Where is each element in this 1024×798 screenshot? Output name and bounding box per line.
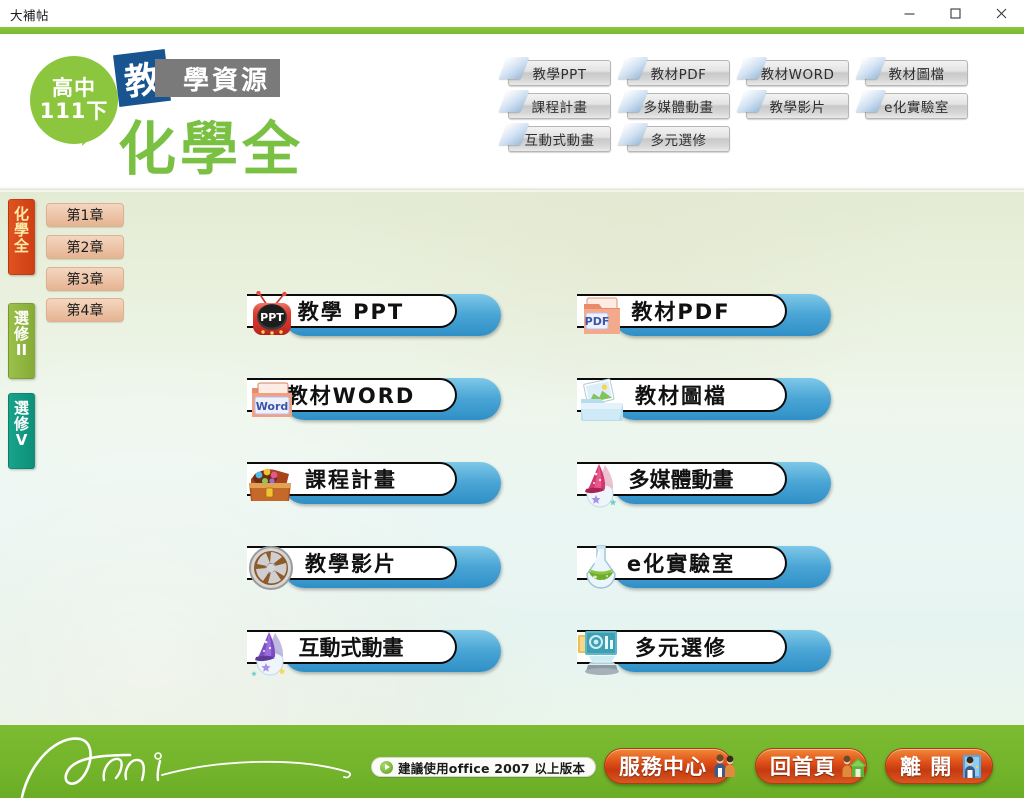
chip-gloss-icon xyxy=(499,90,530,112)
menu-column-right: 教材PDF PDF 教材圖檔 xyxy=(573,290,833,710)
sidebar-tab-elective-2[interactable]: 選 修 II xyxy=(8,303,35,379)
office-version-note: 建議使用office 2007 以上版本 xyxy=(371,757,596,777)
topnav-chip-label: 教材WORD xyxy=(761,63,835,83)
topnav-chip-label: 教學PPT xyxy=(532,63,586,83)
topnav-chip-label: 多元選修 xyxy=(651,129,707,149)
chip-gloss-icon xyxy=(499,57,530,79)
topnav-chip-ppt[interactable]: 教學PPT xyxy=(508,60,611,86)
people-icon xyxy=(712,753,738,779)
service-center-button[interactable]: 服務中心 xyxy=(604,748,732,784)
sidebar-chapter-4[interactable]: 第4章 xyxy=(46,298,124,322)
menu-item-material-images[interactable]: 教材圖檔 xyxy=(573,374,833,426)
sidebar-tab-line: V xyxy=(9,433,34,449)
svg-text:Word: Word xyxy=(256,400,289,413)
menu-item-multimedia-animation[interactable]: 多媒體動畫 xyxy=(573,458,833,510)
photo-folder-icon xyxy=(573,374,631,426)
folder-word-icon: Word xyxy=(243,374,301,426)
chip-gloss-icon xyxy=(618,57,649,79)
window-titlebar: 大補帖 xyxy=(0,0,1024,27)
exit-button[interactable]: 離 開 xyxy=(885,748,993,784)
topnav-chip-elab[interactable]: e化實驗室 xyxy=(865,93,968,119)
menu-item-teaching-ppt[interactable]: 教學 PPT PPT xyxy=(243,290,503,342)
menu-item-interactive-animation[interactable]: 互動式動畫 xyxy=(243,626,503,678)
office-version-note-label: 建議使用office 2007 以上版本 xyxy=(398,758,585,777)
topnav: 教學PPT 教材PDF 教材WORD 教材圖檔 課程計畫 多媒體動畫 xyxy=(508,60,1008,159)
exit-door-icon xyxy=(957,753,983,779)
topnav-chip-syllabus[interactable]: 課程計畫 xyxy=(508,93,611,119)
topnav-chip-pdf[interactable]: 教材PDF xyxy=(627,60,730,86)
service-center-button-label: 服務中心 xyxy=(619,751,707,781)
topnav-chip-label: 課程計畫 xyxy=(532,96,588,116)
topnav-chip-label: 多媒體動畫 xyxy=(644,96,714,116)
menu-item-e-lab[interactable]: e化實驗室 xyxy=(573,542,833,594)
chip-gloss-icon xyxy=(737,90,768,112)
projector-screen-icon xyxy=(573,626,631,678)
nani-brand-logo xyxy=(0,725,420,798)
flask-icon xyxy=(573,542,631,594)
exit-button-label: 離 開 xyxy=(900,751,952,781)
menu-item-multi-elective[interactable]: 多元選修 xyxy=(573,626,833,678)
grade-bubble-line1: 高中 xyxy=(52,77,96,100)
chip-gloss-icon xyxy=(618,123,649,145)
window-title: 大補帖 xyxy=(10,5,49,24)
main-content: 化 學 全 選 修 II 選 修 V 第1章 第2章 第3章 第4章 教學 PP… xyxy=(0,190,1024,725)
sidebar-tab-elective-5[interactable]: 選 修 V xyxy=(8,393,35,469)
menu-item-course-plan[interactable]: 課程計畫 xyxy=(243,458,503,510)
play-icon xyxy=(380,761,393,774)
folder-pdf-icon: PDF xyxy=(573,290,631,342)
sidebar: 化 學 全 選 修 II 選 修 V 第1章 第2章 第3章 第4章 xyxy=(8,195,128,655)
topnav-chip-label: 教材圖檔 xyxy=(889,63,945,83)
grade-bubble-line2: 111下 xyxy=(40,100,109,123)
menu-item-teaching-video[interactable]: 教學影片 xyxy=(243,542,503,594)
top-green-rule xyxy=(0,27,1024,34)
topnav-chip-images[interactable]: 教材圖檔 xyxy=(865,60,968,86)
svg-text:PDF: PDF xyxy=(585,315,610,328)
sidebar-chapter-2[interactable]: 第2章 xyxy=(46,235,124,259)
svg-text:PPT: PPT xyxy=(260,311,284,324)
menu-item-material-pdf[interactable]: 教材PDF PDF xyxy=(573,290,833,342)
close-button[interactable] xyxy=(978,0,1024,27)
topnav-chip-elective[interactable]: 多元選修 xyxy=(627,126,730,152)
sidebar-chapter-1[interactable]: 第1章 xyxy=(46,203,124,227)
house-icon xyxy=(841,753,867,779)
brand-logo: 高中 111下 教 學資源 化學全 xyxy=(18,50,318,180)
sidebar-chapter-3[interactable]: 第3章 xyxy=(46,267,124,291)
page-header: 高中 111下 教 學資源 化學全 教學PPT 教材PDF 教材WORD 教材圖… xyxy=(0,34,1024,190)
treasure-chest-icon xyxy=(243,458,301,510)
grade-bubble: 高中 111下 xyxy=(30,56,118,144)
topnav-chip-label: 互動式動畫 xyxy=(525,129,595,149)
topnav-chip-label: 教材PDF xyxy=(651,63,707,83)
chip-gloss-icon xyxy=(856,90,887,112)
sidebar-tab-line: 全 xyxy=(9,239,34,255)
topnav-row-2: 課程計畫 多媒體動畫 教學影片 e化實驗室 xyxy=(508,93,1008,119)
home-button[interactable]: 回首頁 xyxy=(755,748,867,784)
header-subtitle: 學資源 xyxy=(155,59,280,97)
chip-gloss-icon xyxy=(856,57,887,79)
minimize-button[interactable] xyxy=(886,0,932,27)
menu-item-material-word[interactable]: 教材WORD Word xyxy=(243,374,503,426)
sidebar-tab-chemistry-all[interactable]: 化 學 全 xyxy=(8,199,35,275)
maximize-button[interactable] xyxy=(932,0,978,27)
sidebar-tab-line: II xyxy=(9,343,34,359)
magic-hat-purple-icon xyxy=(243,626,301,678)
page-title: 化學全 xyxy=(118,102,304,186)
film-reel-icon xyxy=(243,542,301,594)
magic-hat-pink-icon xyxy=(573,458,631,510)
grade-bubble-tail xyxy=(82,127,100,150)
topnav-row-3: 互動式動畫 多元選修 xyxy=(508,126,1008,152)
topnav-row-1: 教學PPT 教材PDF 教材WORD 教材圖檔 xyxy=(508,60,1008,86)
menu-column-left: 教學 PPT PPT xyxy=(243,290,503,710)
topnav-chip-label: 教學影片 xyxy=(770,96,826,116)
topnav-chip-interactive[interactable]: 互動式動畫 xyxy=(508,126,611,152)
topnav-chip-video[interactable]: 教學影片 xyxy=(746,93,849,119)
topnav-chip-word[interactable]: 教材WORD xyxy=(746,60,849,86)
topnav-chip-label: e化實驗室 xyxy=(884,96,949,116)
topnav-chip-multimedia[interactable]: 多媒體動畫 xyxy=(627,93,730,119)
home-button-label: 回首頁 xyxy=(770,751,836,781)
tv-ppt-icon: PPT xyxy=(243,290,301,342)
